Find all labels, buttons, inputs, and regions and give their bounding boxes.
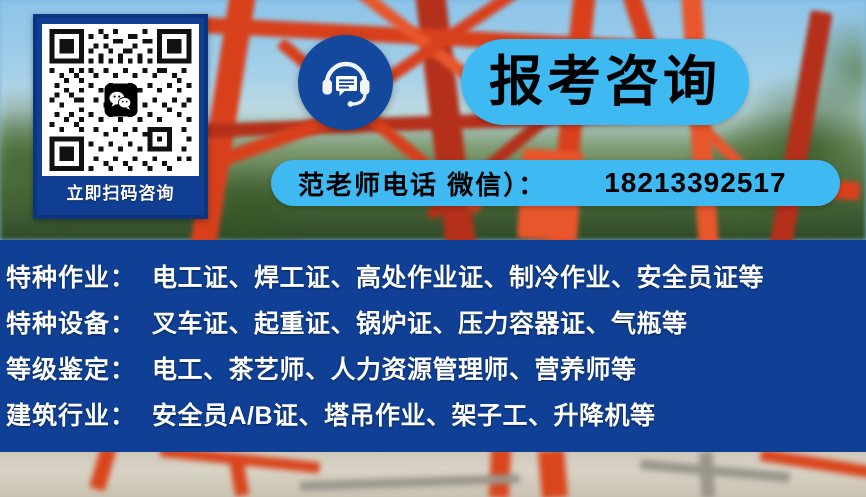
qr-code-image[interactable] — [42, 24, 199, 176]
phone-number[interactable]: 18213392517 — [604, 167, 786, 199]
qr-code-card[interactable]: 立即扫码咨询 — [33, 14, 208, 219]
wechat-bubbles-icon — [109, 90, 133, 110]
course-category-label: 特种作业： — [6, 258, 152, 294]
course-list-panel: 特种作业： 电工证、焊工证、高处作业证、制冷作业、安全员证等 特种设备： 叉车证… — [0, 240, 866, 452]
bottom-photo-blur — [0, 452, 866, 497]
contact-label: 范老师电话 微信）： — [298, 165, 546, 202]
course-row: 特种设备： 叉车证、起重证、锅炉证、压力容器证、气瓶等 — [6, 304, 866, 350]
customer-service-badge[interactable] — [298, 35, 393, 130]
course-category-items: 电工、茶艺师、人力资源管理师、营养师等 — [152, 350, 637, 386]
bottom-photo-strip — [0, 452, 866, 497]
course-row: 等级鉴定： 电工、茶艺师、人力资源管理师、营养师等 — [6, 350, 866, 396]
wechat-logo-icon — [104, 84, 137, 117]
course-category-label: 等级鉴定： — [6, 350, 152, 386]
course-category-label: 建筑行业： — [6, 396, 152, 432]
course-row: 建筑行业： 安全员A/B证、塔吊作业、架子工、升降机等 — [6, 396, 866, 442]
course-category-label: 特种设备： — [6, 304, 152, 340]
course-category-items: 叉车证、起重证、锅炉证、压力容器证、气瓶等 — [152, 304, 688, 340]
consult-title-pill[interactable]: 报考咨询 — [461, 39, 749, 125]
course-category-items: 安全员A/B证、塔吊作业、架子工、升降机等 — [152, 396, 656, 432]
course-row: 特种作业： 电工证、焊工证、高处作业证、制冷作业、安全员证等 — [6, 258, 866, 304]
course-category-items: 电工证、焊工证、高处作业证、制冷作业、安全员证等 — [152, 258, 764, 294]
hero-photo-banner: 立即扫码咨询 报考咨询 — [0, 0, 866, 240]
consult-title-text: 报考咨询 — [489, 55, 721, 109]
promo-poster: 立即扫码咨询 报考咨询 — [0, 0, 866, 497]
contact-phone-pill[interactable]: 范老师电话 微信）： 18213392517 — [271, 160, 840, 206]
headset-support-icon — [318, 56, 374, 110]
qr-card-caption: 立即扫码咨询 — [67, 176, 175, 212]
